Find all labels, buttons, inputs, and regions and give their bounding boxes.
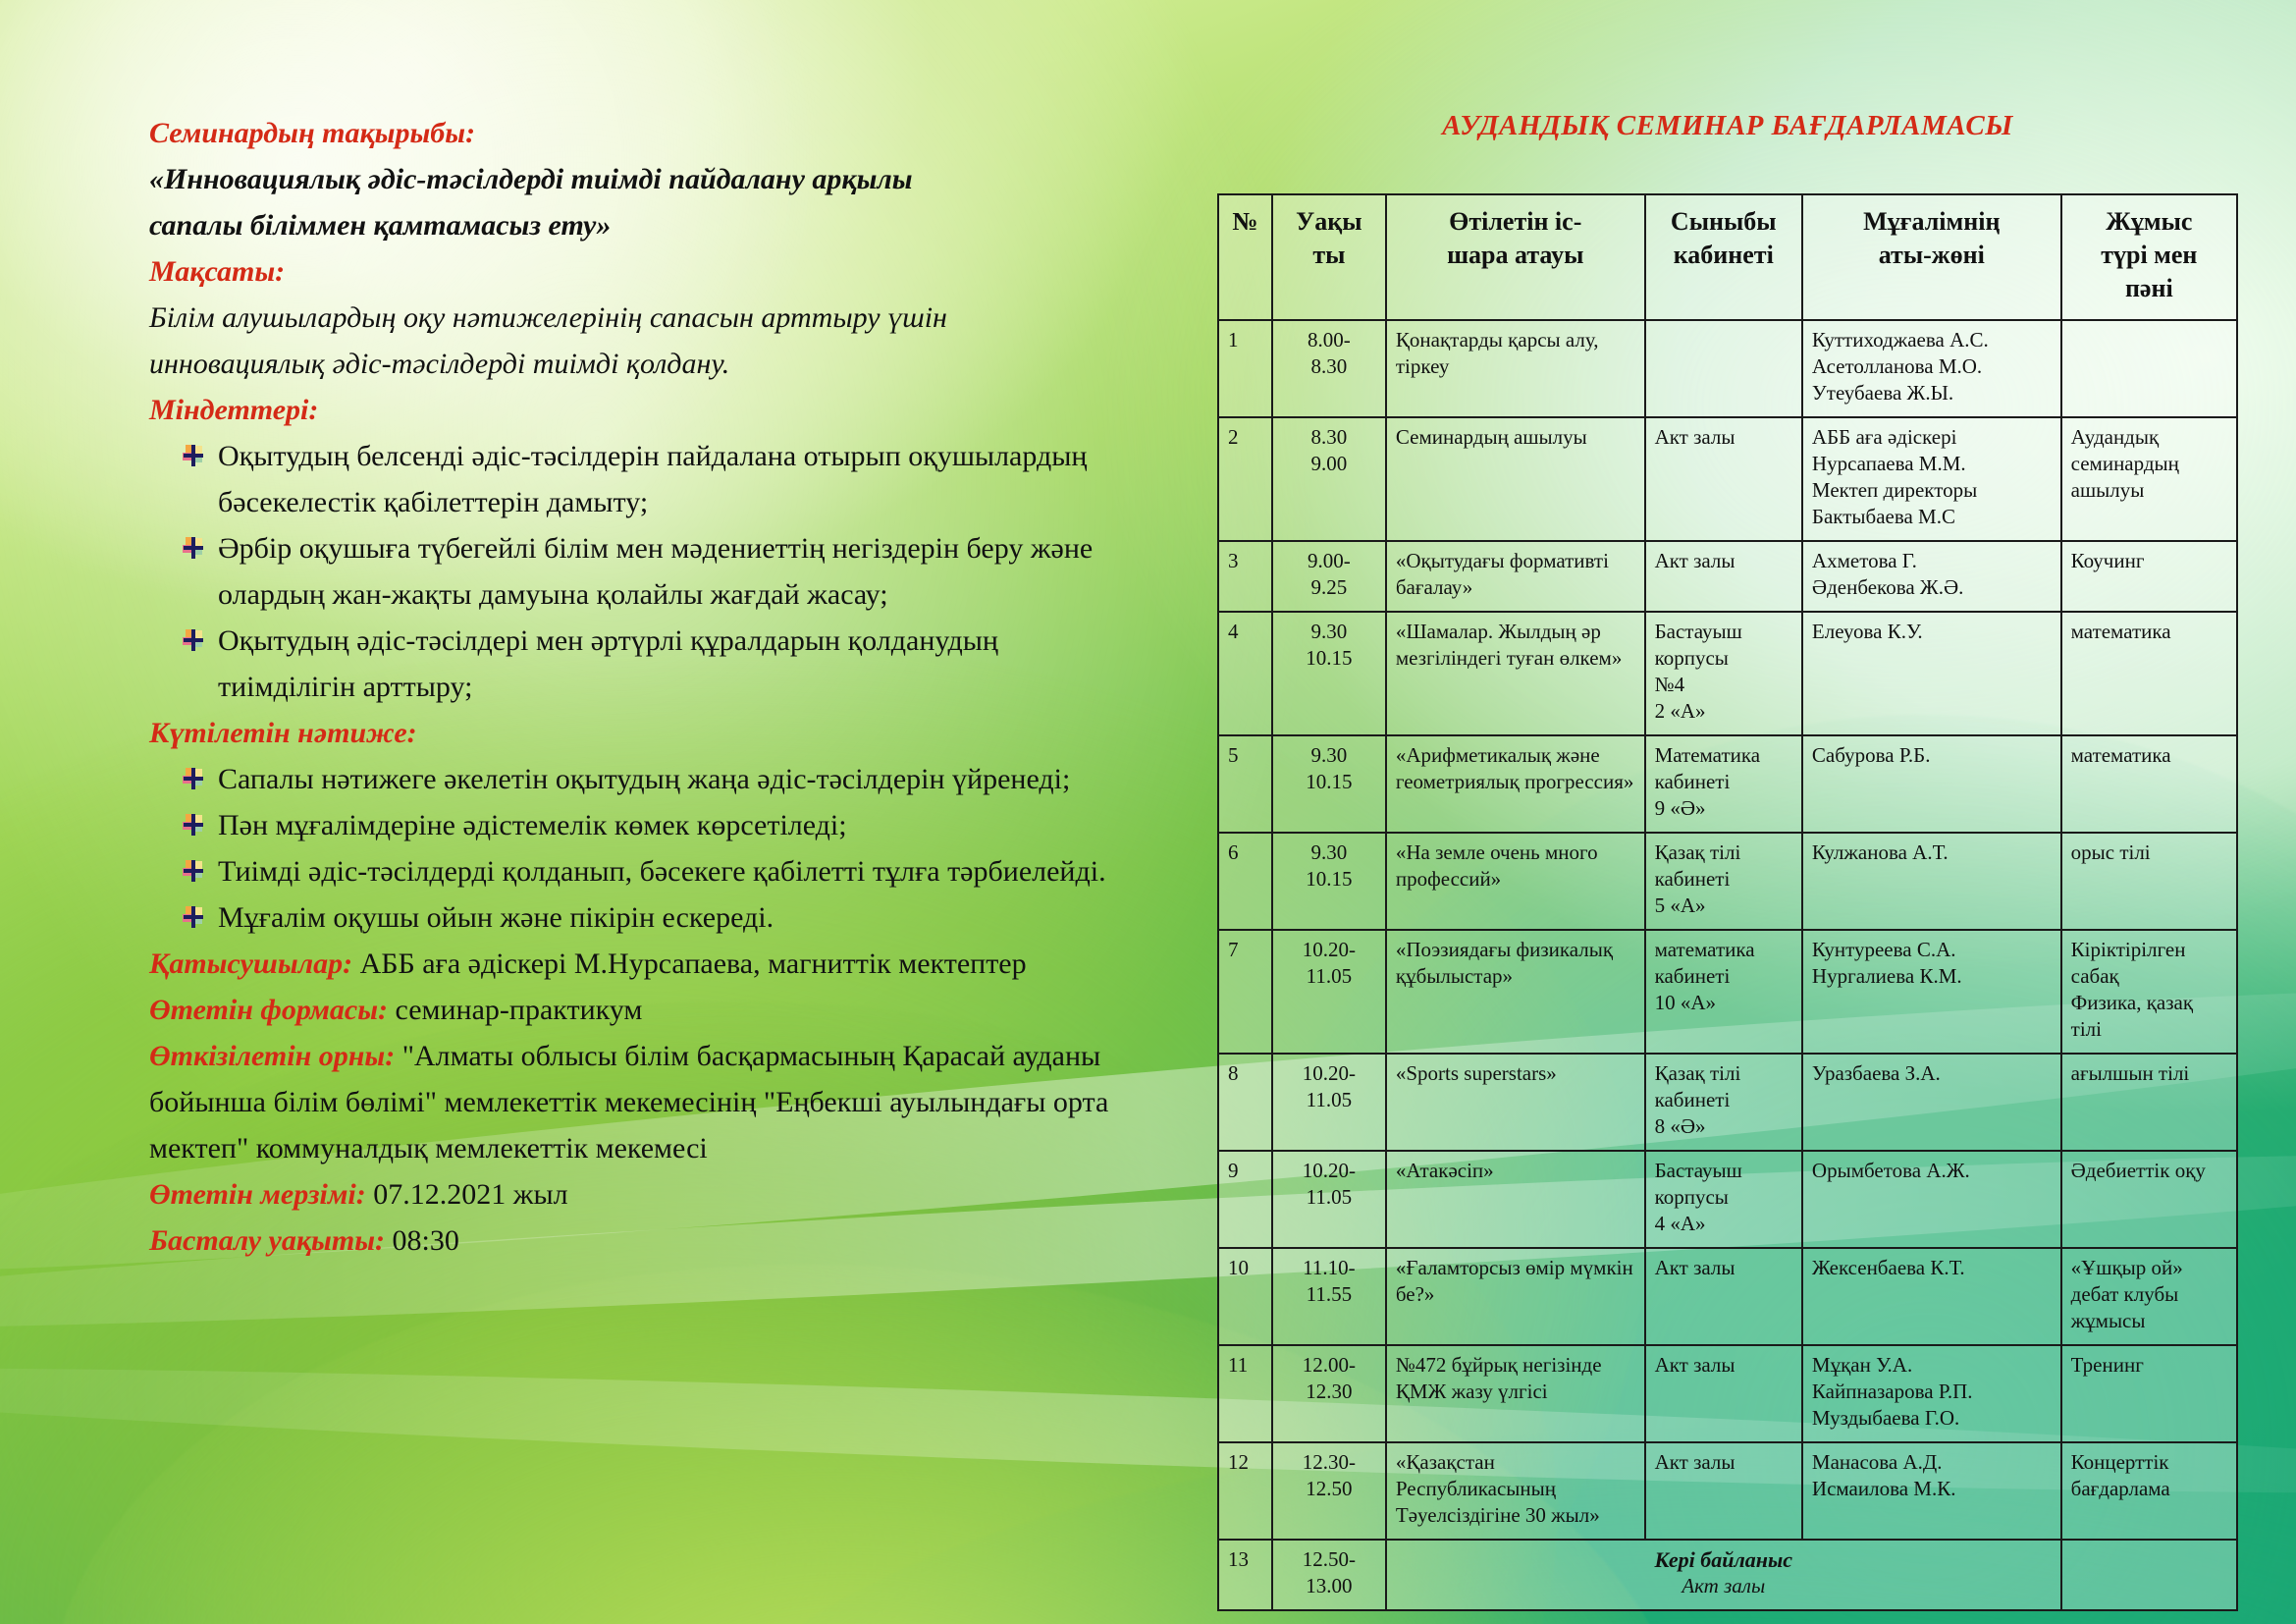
cell-room: Акт залы: [1645, 417, 1802, 541]
table-row: 9 10.20- 11.05 «Атакәсіп» Бастауыш корпу…: [1218, 1151, 2237, 1248]
list-item: Сапалы нәтижеге әкелетін оқытудың жаңа ә…: [149, 756, 1141, 802]
cell-teacher: Орымбетова А.Ж.: [1802, 1151, 2061, 1248]
cell-time: 10.20- 11.05: [1272, 930, 1386, 1054]
plus-bullet-icon: [183, 860, 204, 882]
list-item: Тиімді әдіс-тәсілдерді қолданып, бәсекег…: [149, 848, 1141, 894]
cell-time: 12.50- 13.00: [1272, 1540, 1386, 1610]
cell-no: 5: [1218, 735, 1272, 833]
topic-value-line2: сапалы біліммен қамтамасыз ету»: [149, 202, 1141, 248]
table-header-row: № Уақы ты Өтілетін іс- шара атауы Сыныбы…: [1218, 194, 2237, 320]
table-row: 4 9.30 10.15 «Шамалар. Жылдың әр мезгілі…: [1218, 612, 2237, 735]
cell-no: 12: [1218, 1442, 1272, 1540]
cell-type: математика: [2061, 612, 2237, 735]
cell-feedback: Кері байланыс Акт залы: [1386, 1540, 2061, 1610]
cell-type: Коучинг: [2061, 541, 2237, 612]
cell-type: Әдебиеттік оқу: [2061, 1151, 2237, 1248]
date-value: 07.12.2021 жыл: [366, 1178, 568, 1211]
cell-room: Математика кабинеті 9 «Ә»: [1645, 735, 1802, 833]
participants-label: Қатысушылар:: [149, 947, 352, 980]
cell-room: Бастауыш корпусы 4 «А»: [1645, 1151, 1802, 1248]
goal-label: Мақсаты:: [149, 248, 1141, 295]
program-table: № Уақы ты Өтілетін іс- шара атауы Сыныбы…: [1217, 193, 2238, 1611]
cell-no: 9: [1218, 1151, 1272, 1248]
col-header-type: Жұмыс түрі мен пәні: [2061, 194, 2237, 320]
list-item-label: Оқытудың әдіс-тәсілдері мен әртүрлі құра…: [218, 624, 998, 703]
cell-time: 9.30 10.15: [1272, 735, 1386, 833]
cell-time: 12.00- 12.30: [1272, 1345, 1386, 1442]
table-row: 11 12.00- 12.30 №472 бұйрық негізінде ҚМ…: [1218, 1345, 2237, 1442]
cell-room: Қазақ тілі кабинеті 8 «Ә»: [1645, 1054, 1802, 1151]
list-item-label: Әрбір оқушыға түбегейлі білім мен мәдени…: [218, 532, 1093, 611]
cell-time: 9.00- 9.25: [1272, 541, 1386, 612]
cell-time: 8.30 9.00: [1272, 417, 1386, 541]
table-row: 10 11.10- 11.55 «Ғаламторсыз өмір мүмкін…: [1218, 1248, 2237, 1345]
table-row: 1 8.00- 8.30 Қонақтарды қарсы алу, тірке…: [1218, 320, 2237, 417]
cell-room: [1645, 320, 1802, 417]
form-value: семинар-практикум: [388, 994, 642, 1026]
col-header-time: Уақы ты: [1272, 194, 1386, 320]
feedback-subtitle: Акт залы: [1396, 1573, 2052, 1599]
cell-time: 12.30- 12.50: [1272, 1442, 1386, 1540]
col-header-no: №: [1218, 194, 1272, 320]
cell-teacher: Куттиходжаева А.С. Асетолланова М.О. Уте…: [1802, 320, 2061, 417]
cell-event: «Поэзиядағы физикалық құбылыстар»: [1386, 930, 1645, 1054]
table-row-feedback: 13 12.50- 13.00 Кері байланыс Акт залы: [1218, 1540, 2237, 1610]
plus-bullet-icon: [183, 814, 204, 836]
cell-time: 10.20- 11.05: [1272, 1151, 1386, 1248]
cell-type: Тренинг: [2061, 1345, 2237, 1442]
left-text-column: Семинардың тақырыбы: «Инновациялық әдіс-…: [149, 110, 1141, 1264]
start-time-value: 08:30: [385, 1224, 459, 1257]
cell-time: 9.30 10.15: [1272, 833, 1386, 930]
slide-page: Семинардың тақырыбы: «Инновациялық әдіс-…: [0, 0, 2296, 1624]
list-item: Оқытудың әдіс-тәсілдері мен әртүрлі құра…: [149, 618, 1141, 710]
tasks-list: Оқытудың белсенді әдіс-тәсілдерін пайдал…: [149, 433, 1141, 710]
cell-time: 8.00- 8.30: [1272, 320, 1386, 417]
tasks-label: Міндеттері:: [149, 387, 1141, 433]
table-row: 6 9.30 10.15 «На земле очень много профе…: [1218, 833, 2237, 930]
cell-room: Акт залы: [1645, 1248, 1802, 1345]
plus-bullet-icon: [183, 629, 204, 651]
expected-result-label: Күтілетін нәтиже:: [149, 710, 1141, 756]
cell-event: «Арифметикалық және геометриялық прогрес…: [1386, 735, 1645, 833]
venue-label: Өткізілетін орны:: [149, 1040, 395, 1072]
cell-teacher: Кунтуреева С.А. Нургалиева К.М.: [1802, 930, 2061, 1054]
cell-event: №472 бұйрық негізінде ҚМЖ жазу үлгісі: [1386, 1345, 1645, 1442]
list-item-label: Оқытудың белсенді әдіс-тәсілдерін пайдал…: [218, 440, 1087, 518]
date-line: Өтетін мерзімі: 07.12.2021 жыл: [149, 1171, 1141, 1218]
list-item: Мұғалім оқушы ойын және пікірін ескереді…: [149, 894, 1141, 941]
cell-type: «Ұшқыр ой» дебат клубы жұмысы: [2061, 1248, 2237, 1345]
col-header-teacher: Мұғалімнің аты-жөні: [1802, 194, 2061, 320]
form-label: Өтетін формасы:: [149, 994, 388, 1026]
plus-bullet-icon: [183, 445, 204, 466]
list-item-label: Мұғалім оқушы ойын және пікірін ескереді…: [218, 901, 774, 934]
cell-no: 3: [1218, 541, 1272, 612]
right-program-column: АУДАНДЫҚ СЕМИНАР БАҒДАРЛАМАСЫ № Уақы ты …: [1217, 110, 2238, 1611]
cell-type: математика: [2061, 735, 2237, 833]
list-item: Пән мұғалімдеріне әдістемелік көмек көрс…: [149, 802, 1141, 848]
cell-teacher: Манасова А.Д. Исмаилова М.К.: [1802, 1442, 2061, 1540]
cell-event: Қонақтарды қарсы алу, тіркеу: [1386, 320, 1645, 417]
cell-type: орыс тілі: [2061, 833, 2237, 930]
cell-teacher: Ахметова Г. Әденбекова Ж.Ә.: [1802, 541, 2061, 612]
cell-type: [2061, 320, 2237, 417]
cell-teacher: Уразбаева З.А.: [1802, 1054, 2061, 1151]
cell-teacher: Мұқан У.А. Кайпназарова Р.П. Муздыбаева …: [1802, 1345, 2061, 1442]
program-title: АУДАНДЫҚ СЕМИНАР БАҒДАРЛАМАСЫ: [1217, 110, 2238, 142]
cell-event: «На земле очень много профессий»: [1386, 833, 1645, 930]
table-row: 7 10.20- 11.05 «Поэзиядағы физикалық құб…: [1218, 930, 2237, 1054]
table-row: 12 12.30- 12.50 «Қазақстан Республикасын…: [1218, 1442, 2237, 1540]
list-item-label: Сапалы нәтижеге әкелетін оқытудың жаңа ә…: [218, 763, 1070, 795]
cell-room: математика кабинеті 10 «А»: [1645, 930, 1802, 1054]
venue-line: Өткізілетін орны: "Алматы облысы білім б…: [149, 1033, 1141, 1171]
cell-teacher: Жексенбаева К.Т.: [1802, 1248, 2061, 1345]
cell-no: 8: [1218, 1054, 1272, 1151]
cell-event: «Шамалар. Жылдың әр мезгіліндегі туған ө…: [1386, 612, 1645, 735]
table-row: 2 8.30 9.00 Семинардың ашылуы Акт залы А…: [1218, 417, 2237, 541]
cell-teacher: Елеуова К.У.: [1802, 612, 2061, 735]
list-item-label: Пән мұғалімдеріне әдістемелік көмек көрс…: [218, 809, 847, 841]
participants-line: Қатысушылар: АББ аға әдіскері М.Нурсапае…: [149, 941, 1141, 987]
cell-no: 4: [1218, 612, 1272, 735]
form-line: Өтетін формасы: семинар-практикум: [149, 987, 1141, 1033]
col-header-event: Өтілетін іс- шара атауы: [1386, 194, 1645, 320]
cell-type: Концерттік бағдарлама: [2061, 1442, 2237, 1540]
cell-room: Акт залы: [1645, 1345, 1802, 1442]
list-item: Оқытудың белсенді әдіс-тәсілдерін пайдал…: [149, 433, 1141, 525]
cell-teacher: Кулжанова А.Т.: [1802, 833, 2061, 930]
table-row: 8 10.20- 11.05 «Sports superstars» Қазақ…: [1218, 1054, 2237, 1151]
cell-type: Кіріктірілген сабақ Физика, қазақ тілі: [2061, 930, 2237, 1054]
table-body: 1 8.00- 8.30 Қонақтарды қарсы алу, тірке…: [1218, 320, 2237, 1610]
cell-teacher: АББ аға әдіскері Нурсапаева М.М. Мектеп …: [1802, 417, 2061, 541]
plus-bullet-icon: [183, 906, 204, 928]
cell-event: «Қазақстан Республикасының Тәуелсіздігін…: [1386, 1442, 1645, 1540]
cell-no: 7: [1218, 930, 1272, 1054]
cell-type-empty: [2061, 1540, 2237, 1610]
goal-line1: Білім алушылардың оқу нәтижелерінің сапа…: [149, 295, 1141, 341]
cell-time: 9.30 10.15: [1272, 612, 1386, 735]
cell-room: Бастауыш корпусы №4 2 «А»: [1645, 612, 1802, 735]
cell-type: Аудандық семинардың ашылуы: [2061, 417, 2237, 541]
cell-no: 13: [1218, 1540, 1272, 1610]
table-row: 3 9.00- 9.25 «Оқытудағы формативті бағал…: [1218, 541, 2237, 612]
date-label: Өтетін мерзімі:: [149, 1178, 366, 1211]
cell-time: 11.10- 11.55: [1272, 1248, 1386, 1345]
results-list: Сапалы нәтижеге әкелетін оқытудың жаңа ә…: [149, 756, 1141, 941]
cell-event: «Атакәсіп»: [1386, 1151, 1645, 1248]
feedback-title: Кері байланыс: [1396, 1546, 2052, 1573]
start-time-label: Басталу уақыты:: [149, 1224, 385, 1257]
cell-teacher: Сабурова Р.Б.: [1802, 735, 2061, 833]
table-row: 5 9.30 10.15 «Арифметикалық және геометр…: [1218, 735, 2237, 833]
goal-line2: инновациялық әдіс-тәсілдерді тиімді қолд…: [149, 341, 1141, 387]
plus-bullet-icon: [183, 537, 204, 559]
cell-no: 2: [1218, 417, 1272, 541]
list-item: Әрбір оқушыға түбегейлі білім мен мәдени…: [149, 525, 1141, 618]
cell-event: «Оқытудағы формативті бағалау»: [1386, 541, 1645, 612]
cell-no: 1: [1218, 320, 1272, 417]
cell-no: 10: [1218, 1248, 1272, 1345]
cell-room: Қазақ тілі кабинеті 5 «А»: [1645, 833, 1802, 930]
cell-no: 11: [1218, 1345, 1272, 1442]
cell-type: ағылшын тілі: [2061, 1054, 2237, 1151]
cell-event: Семинардың ашылуы: [1386, 417, 1645, 541]
topic-label: Семинардың тақырыбы:: [149, 110, 1141, 156]
col-header-room: Сыныбы кабинеті: [1645, 194, 1802, 320]
cell-event: «Sports superstars»: [1386, 1054, 1645, 1151]
cell-event: «Ғаламторсыз өмір мүмкін бе?»: [1386, 1248, 1645, 1345]
cell-time: 10.20- 11.05: [1272, 1054, 1386, 1151]
plus-bullet-icon: [183, 768, 204, 789]
cell-no: 6: [1218, 833, 1272, 930]
cell-room: Акт залы: [1645, 541, 1802, 612]
list-item-label: Тиімді әдіс-тәсілдерді қолданып, бәсекег…: [218, 855, 1106, 888]
cell-room: Акт залы: [1645, 1442, 1802, 1540]
participants-value: АББ аға әдіскері М.Нурсапаева, магниттік…: [352, 947, 1027, 980]
start-time-line: Басталу уақыты: 08:30: [149, 1218, 1141, 1264]
topic-value-line1: «Инновациялық әдіс-тәсілдерді тиімді пай…: [149, 156, 1141, 202]
